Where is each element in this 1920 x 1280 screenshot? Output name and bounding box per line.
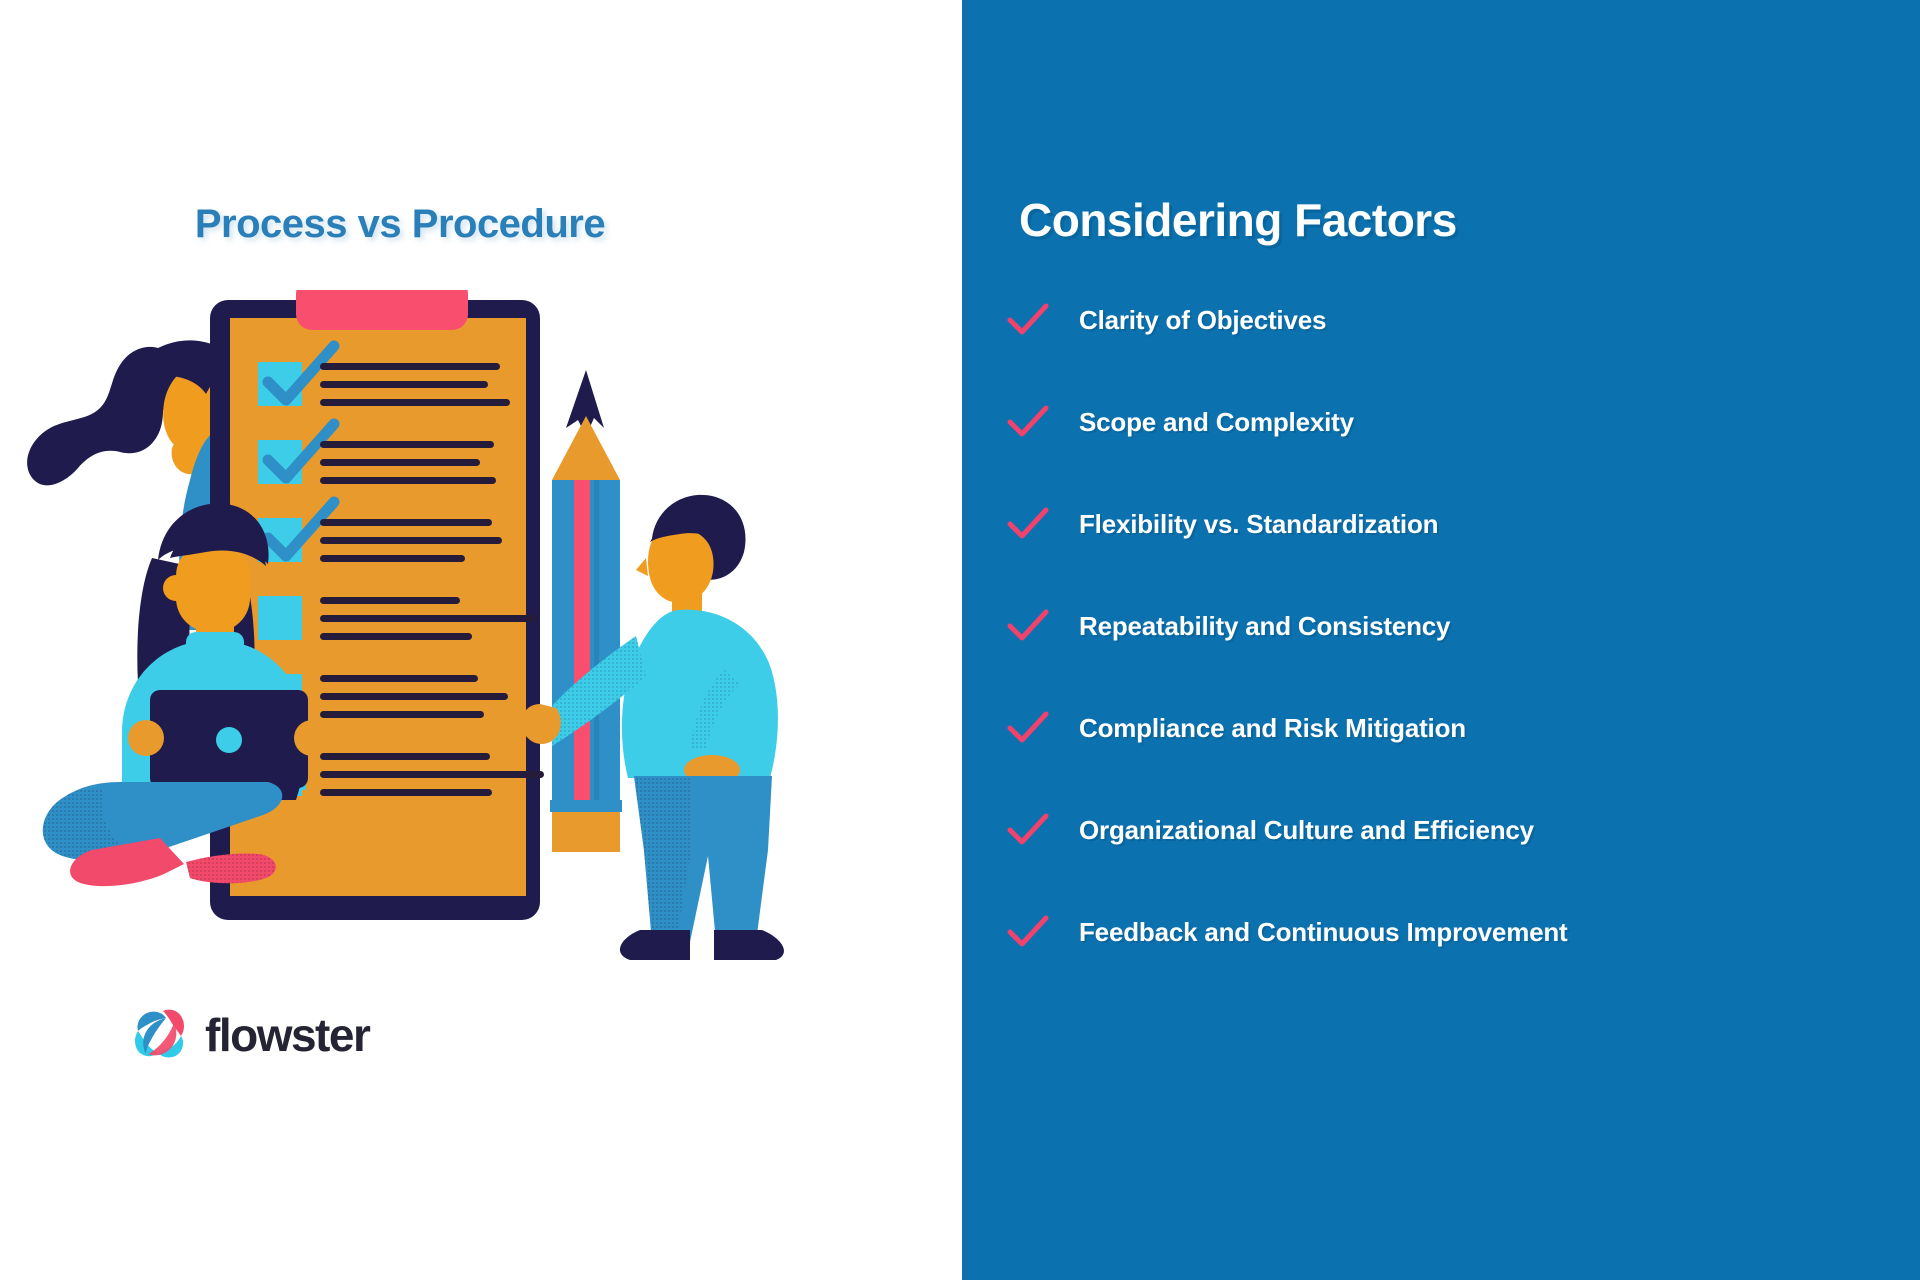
list-item-label: Repeatability and Consistency [1079, 611, 1450, 642]
flowster-logo[interactable]: flowster [133, 1007, 369, 1063]
list-item: Organizational Culture and Efficiency [1007, 806, 1907, 854]
considering-factors-list: Clarity of Objectives Scope and Complexi… [1007, 296, 1907, 1010]
pencil [550, 370, 622, 852]
check-icon [1007, 507, 1079, 541]
check-icon [1007, 405, 1079, 439]
list-item: Compliance and Risk Mitigation [1007, 704, 1907, 752]
panel-heading: Considering Factors [1019, 193, 1457, 247]
flowster-logo-mark [133, 1007, 189, 1063]
list-item-label: Feedback and Continuous Improvement [1079, 917, 1568, 948]
list-item-label: Scope and Complexity [1079, 407, 1354, 438]
list-item: Feedback and Continuous Improvement [1007, 908, 1907, 956]
list-item-label: Organizational Culture and Efficiency [1079, 815, 1534, 846]
list-item: Clarity of Objectives [1007, 296, 1907, 344]
flowster-logo-text: flowster [205, 1008, 369, 1062]
list-item: Flexibility vs. Standardization [1007, 500, 1907, 548]
right-panel: Considering Factors Clarity of Objective… [962, 0, 1920, 1280]
check-icon [1007, 915, 1079, 949]
clipboard-checklist-team-illustration [0, 290, 962, 990]
list-item: Repeatability and Consistency [1007, 602, 1907, 650]
clipboard [210, 290, 544, 920]
page-title: Process vs Procedure [0, 202, 800, 247]
check-icon [1007, 711, 1079, 745]
check-icon [1007, 303, 1079, 337]
infographic-canvas: Process vs Procedure [0, 0, 1920, 1280]
list-item: Scope and Complexity [1007, 398, 1907, 446]
check-icon [1007, 813, 1079, 847]
left-panel: Process vs Procedure [0, 0, 962, 1280]
list-item-label: Compliance and Risk Mitigation [1079, 713, 1466, 744]
check-icon [1007, 609, 1079, 643]
list-item-label: Clarity of Objectives [1079, 305, 1326, 336]
list-item-label: Flexibility vs. Standardization [1079, 509, 1438, 540]
